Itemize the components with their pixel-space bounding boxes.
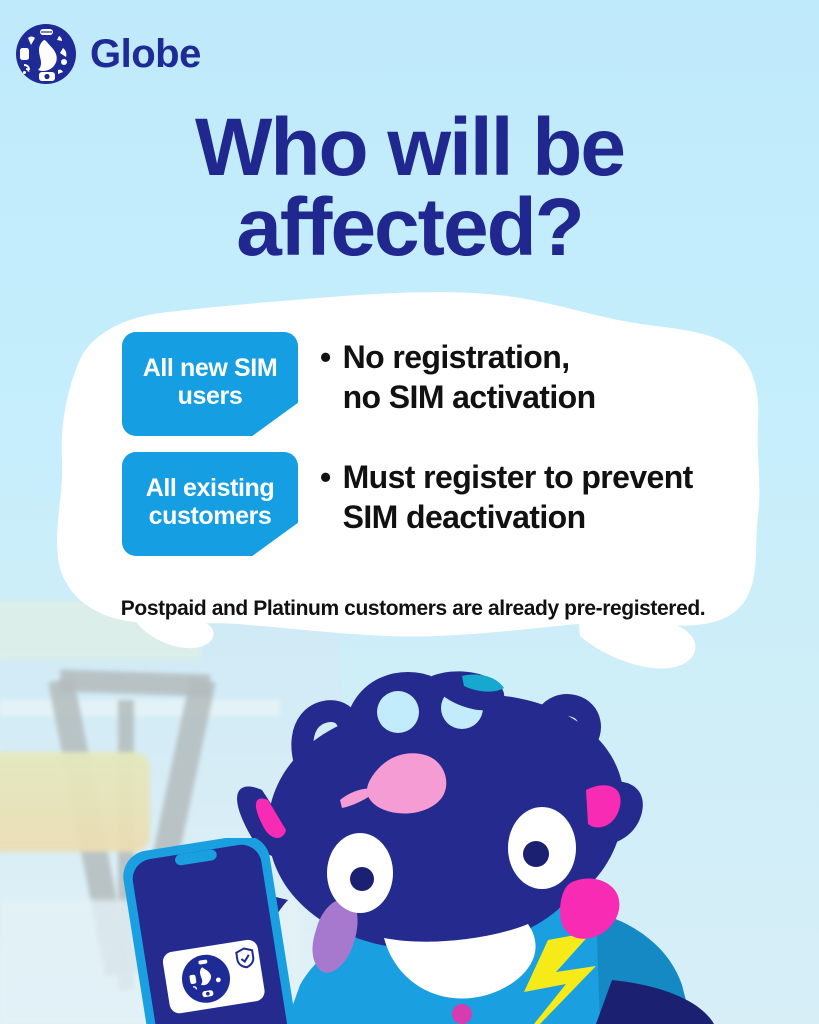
- sim-badge-existing-customers[interactable]: All existing customers: [122, 452, 298, 556]
- bullet-item: • Must register to prevent SIM deactivat…: [320, 452, 782, 537]
- bullet-text: Must register to prevent SIM deactivatio…: [343, 458, 693, 537]
- sim-badge-label: All new SIM users: [132, 354, 288, 410]
- bullet-item: • No registration, no SIM activation: [320, 332, 782, 417]
- bullet-text: No registration, no SIM activation: [343, 338, 596, 417]
- footnote-text: Postpaid and Platinum customers are alre…: [18, 597, 808, 621]
- headline-line-1: Who will be: [195, 102, 624, 193]
- background-desk: [0, 752, 150, 852]
- sim-badge-new-users[interactable]: All new SIM users: [122, 332, 298, 436]
- bullet-dot-icon: •: [320, 458, 331, 537]
- bullet-dot-icon: •: [320, 338, 331, 417]
- audience-rows: All new SIM users • No registration, no …: [122, 332, 782, 556]
- page-title: Who will be affected?: [0, 108, 819, 269]
- phone-with-sim-card[interactable]: [118, 838, 300, 1024]
- brand-logo: Globe: [14, 22, 201, 86]
- brand-name: Globe: [90, 34, 201, 74]
- callout-content: All new SIM users • No registration, no …: [18, 272, 808, 692]
- audience-row: All new SIM users • No registration, no …: [122, 332, 782, 436]
- headline-line-2: affected?: [0, 188, 819, 268]
- audience-row: All existing customers • Must register t…: [122, 452, 782, 556]
- poster-canvas: Globe Who will be affected? All new SIM …: [0, 0, 819, 1024]
- globe-hand-icon: [14, 22, 78, 86]
- background-rail: [0, 700, 280, 716]
- sim-badge-label: All existing customers: [132, 474, 288, 530]
